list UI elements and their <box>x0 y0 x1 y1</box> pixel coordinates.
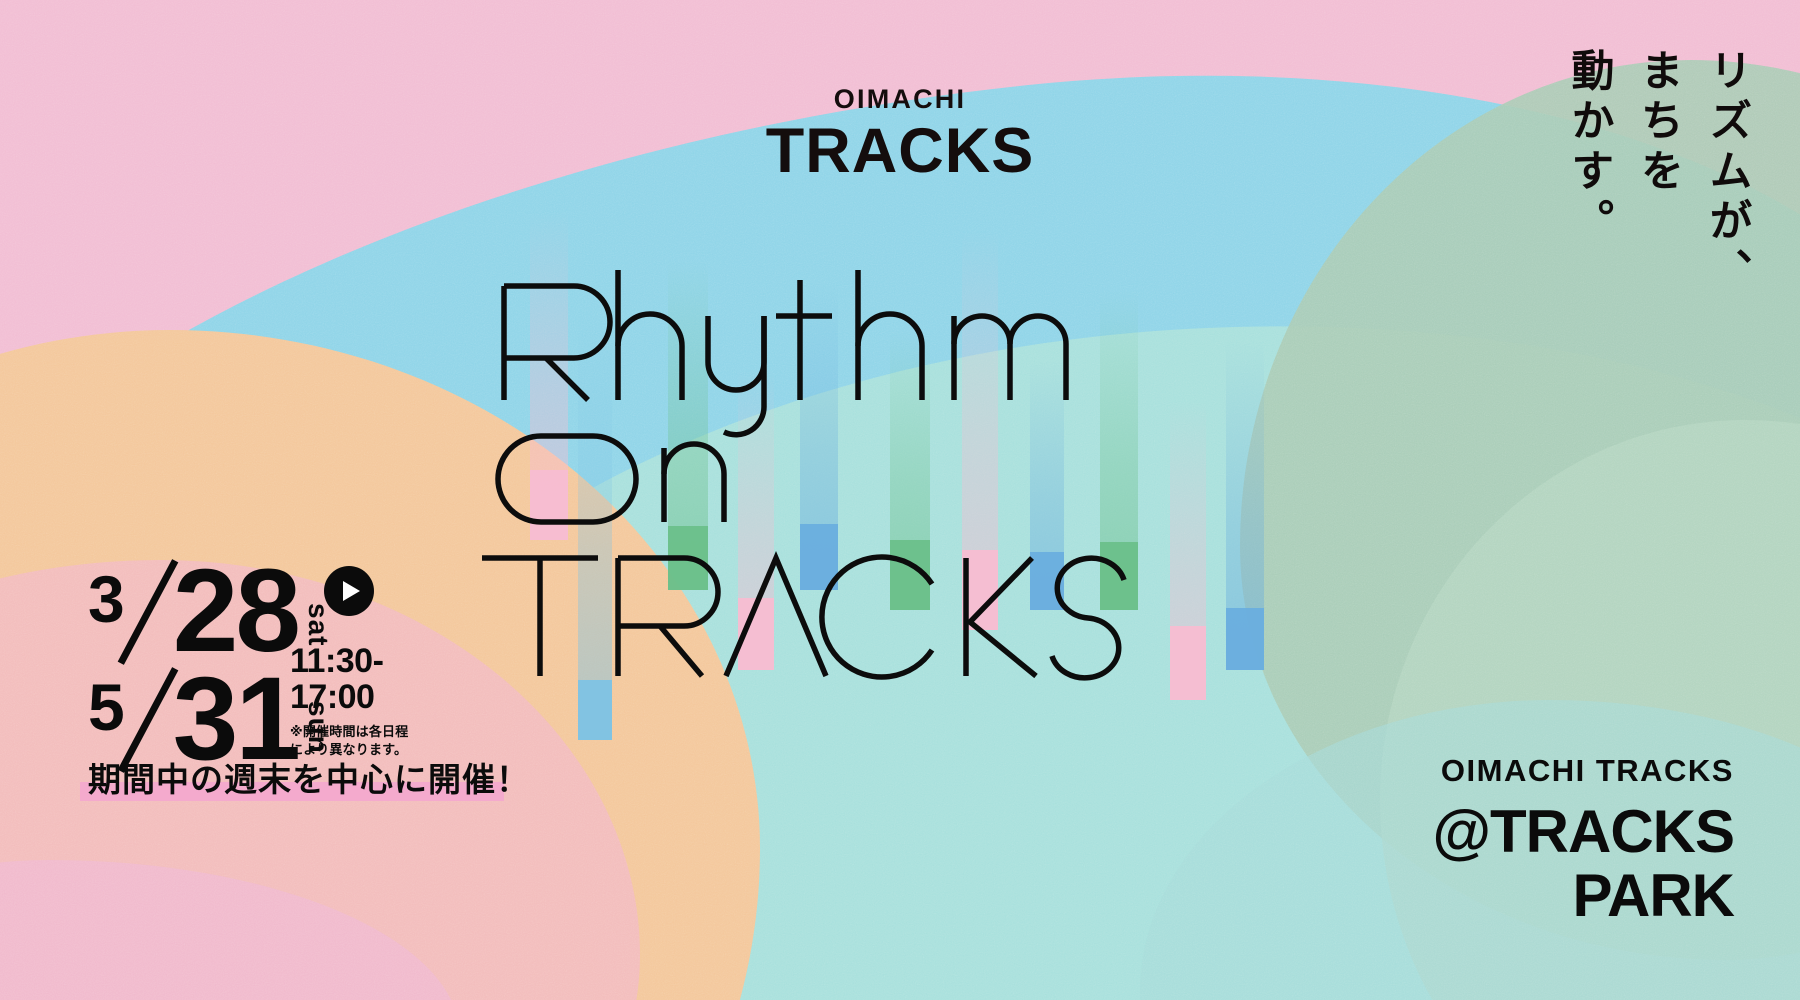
time-line-1: 11:30- <box>290 644 408 680</box>
logo-small-text: OIMACHI <box>766 86 1035 113</box>
title-letter-S <box>1052 558 1124 678</box>
start-dayofweek: sat <box>304 603 332 646</box>
date-slash-start <box>119 558 177 654</box>
vertical-tagline: リズムが、 まちを 動かす。 <box>1567 48 1748 298</box>
start-day: 28 <box>173 563 298 660</box>
title-letter-t <box>776 280 832 400</box>
title-letter-C <box>822 557 932 677</box>
play-triangle-icon <box>343 581 360 601</box>
title-letter-A <box>726 558 826 676</box>
title-letter-R <box>504 286 610 400</box>
title-letter-R2 <box>618 558 718 676</box>
logo-big-text: TRACKS <box>766 120 1035 183</box>
header-logo: OIMACHI TRACKS <box>766 86 1035 183</box>
title-letter-h <box>618 270 682 400</box>
period-note: 期間中の週末を中心に開催！ <box>84 753 534 801</box>
title-letter-K <box>966 558 1036 676</box>
time-line-2: 17:00 <box>290 680 408 716</box>
tagline-column-2: まちを <box>1636 48 1679 298</box>
play-icon[interactable] <box>324 566 374 616</box>
title-letter-T <box>482 558 598 676</box>
title-letter-m <box>954 316 1066 400</box>
equalizer-bar-cap-2 <box>578 680 612 740</box>
time-note-line-1: ※開催時間は各日程 <box>290 723 408 741</box>
event-time-block: 11:30- 17:00 ※開催時間は各日程 により異なります。 <box>290 644 408 758</box>
title-letter-o <box>498 436 636 522</box>
main-title-artwork <box>470 250 1250 680</box>
main-title-block <box>470 250 1230 670</box>
poster-canvas: OIMACHI TRACKS リズムが、 まちを 動かす。 <box>0 0 1800 1000</box>
date-slash-end <box>119 666 177 762</box>
title-letter-h2 <box>858 270 922 400</box>
title-letter-n <box>664 444 724 522</box>
venue-line-1: @TRACKS <box>1433 802 1735 862</box>
venue-line-2: PARK <box>1433 866 1735 926</box>
tagline-column-3: 動かす。 <box>1567 48 1610 298</box>
title-letter-y <box>708 316 764 435</box>
venue-block: OIMACHI TRACKS @TRACKS PARK <box>1433 755 1735 926</box>
tagline-column-1: リズムが、 <box>1705 48 1748 298</box>
venue-small-text: OIMACHI TRACKS <box>1433 755 1735 786</box>
